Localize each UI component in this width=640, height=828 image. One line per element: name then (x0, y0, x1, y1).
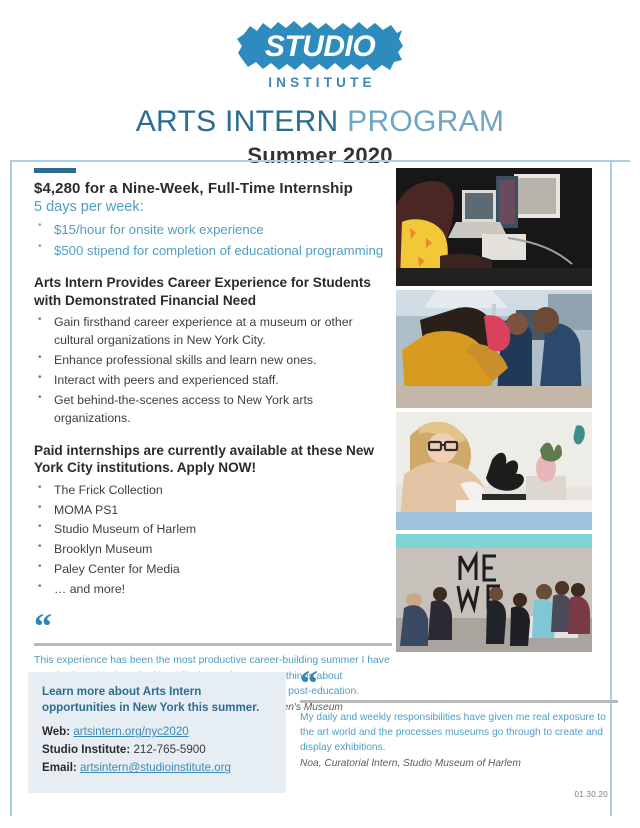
page-subtitle: Summer 2020 (0, 143, 640, 169)
datestamp: 01.30.20 (574, 790, 608, 799)
benefits-list: Gain firsthand career experience at a mu… (34, 314, 392, 428)
list-item: The Frick Collection (34, 482, 392, 500)
interns-working-outdoors-photo (396, 290, 592, 408)
contact-phone-row: Studio Institute: 212-765-5900 (42, 743, 272, 756)
quote-divider (34, 643, 392, 646)
studio-logo-icon: STUDIO (236, 18, 404, 74)
logo-institute-text: INSTITUTE (240, 75, 404, 90)
pay-bullet-list: $15/hour for onsite work experience $500… (34, 220, 392, 260)
list-item: $500 stipend for completion of education… (34, 241, 392, 260)
contact-phone-value: 212-765-5900 (133, 743, 205, 756)
photo-column (392, 168, 604, 656)
available-internships-heading: Paid internships are currently available… (34, 442, 392, 477)
quote-mark-icon: “ (34, 615, 392, 637)
page-title: ARTS INTERN PROGRAM (0, 106, 640, 138)
page-title-light: PROGRAM (347, 105, 504, 138)
contact-heading: Learn more about Arts Intern opportuniti… (42, 684, 272, 716)
contact-email-row: Email: artsintern@studioinstitute.org (42, 761, 272, 774)
contact-email-label: Email: (42, 761, 77, 774)
gallery-visitors-me-we-photo (396, 534, 592, 652)
contact-web-row: Web: artsintern.org/nyc2020 (42, 725, 272, 738)
studio-institute-logo: STUDIO INSTITUTE (236, 18, 404, 90)
flyer-header: STUDIO INSTITUTE ARTS INTERN PROGRAM Sum… (0, 0, 640, 169)
text-column: $4,280 for a Nine-Week, Full-Time Intern… (0, 168, 392, 713)
intern-at-computer-workstation-photo (396, 168, 592, 286)
flyer-footer: Learn more about Arts Intern opportuniti… (0, 672, 640, 793)
testimonial-noa: “ My daily and weekly responsibilities h… (300, 672, 618, 769)
list-item: Get behind-the-scenes access to New York… (34, 392, 392, 428)
list-item: Studio Museum of Harlem (34, 521, 392, 539)
contact-web-link[interactable]: artsintern.org/nyc2020 (73, 725, 188, 738)
quote-text: My daily and weekly responsibilities hav… (300, 710, 618, 755)
accent-bar (34, 168, 76, 173)
list-item: … and more! (34, 581, 392, 599)
schedule-subhead: 5 days per week: (34, 199, 392, 215)
stipend-headline: $4,280 for a Nine-Week, Full-Time Intern… (34, 180, 392, 197)
contact-web-label: Web: (42, 725, 70, 738)
page-title-strong: ARTS INTERN (136, 105, 347, 138)
svg-text:STUDIO: STUDIO (265, 30, 376, 63)
contact-email-link[interactable]: artsintern@studioinstitute.org (80, 761, 231, 774)
frame-line-top (10, 160, 630, 162)
list-item: Brooklyn Museum (34, 541, 392, 559)
list-item: Enhance professional skills and learn ne… (34, 352, 392, 370)
list-item: MOMA PS1 (34, 502, 392, 520)
quote-mark-icon: “ (300, 672, 618, 694)
main-content: $4,280 for a Nine-Week, Full-Time Intern… (0, 168, 640, 713)
intern-handling-artwork-photo (396, 412, 592, 530)
career-experience-heading: Arts Intern Provides Career Experience f… (34, 274, 392, 309)
flyer-page: STUDIO INSTITUTE ARTS INTERN PROGRAM Sum… (0, 0, 640, 828)
contact-phone-label: Studio Institute: (42, 743, 130, 756)
list-item: $15/hour for onsite work experience (34, 220, 392, 239)
contact-box: Learn more about Arts Intern opportuniti… (28, 672, 286, 793)
list-item: Paley Center for Media (34, 561, 392, 579)
institutions-list: The Frick Collection MOMA PS1 Studio Mus… (34, 482, 392, 600)
quote-attribution: Noa, Curatorial Intern, Studio Museum of… (300, 758, 618, 769)
list-item: Gain firsthand career experience at a mu… (34, 314, 392, 350)
list-item: Interact with peers and experienced staf… (34, 372, 392, 390)
quote-divider (300, 700, 618, 703)
